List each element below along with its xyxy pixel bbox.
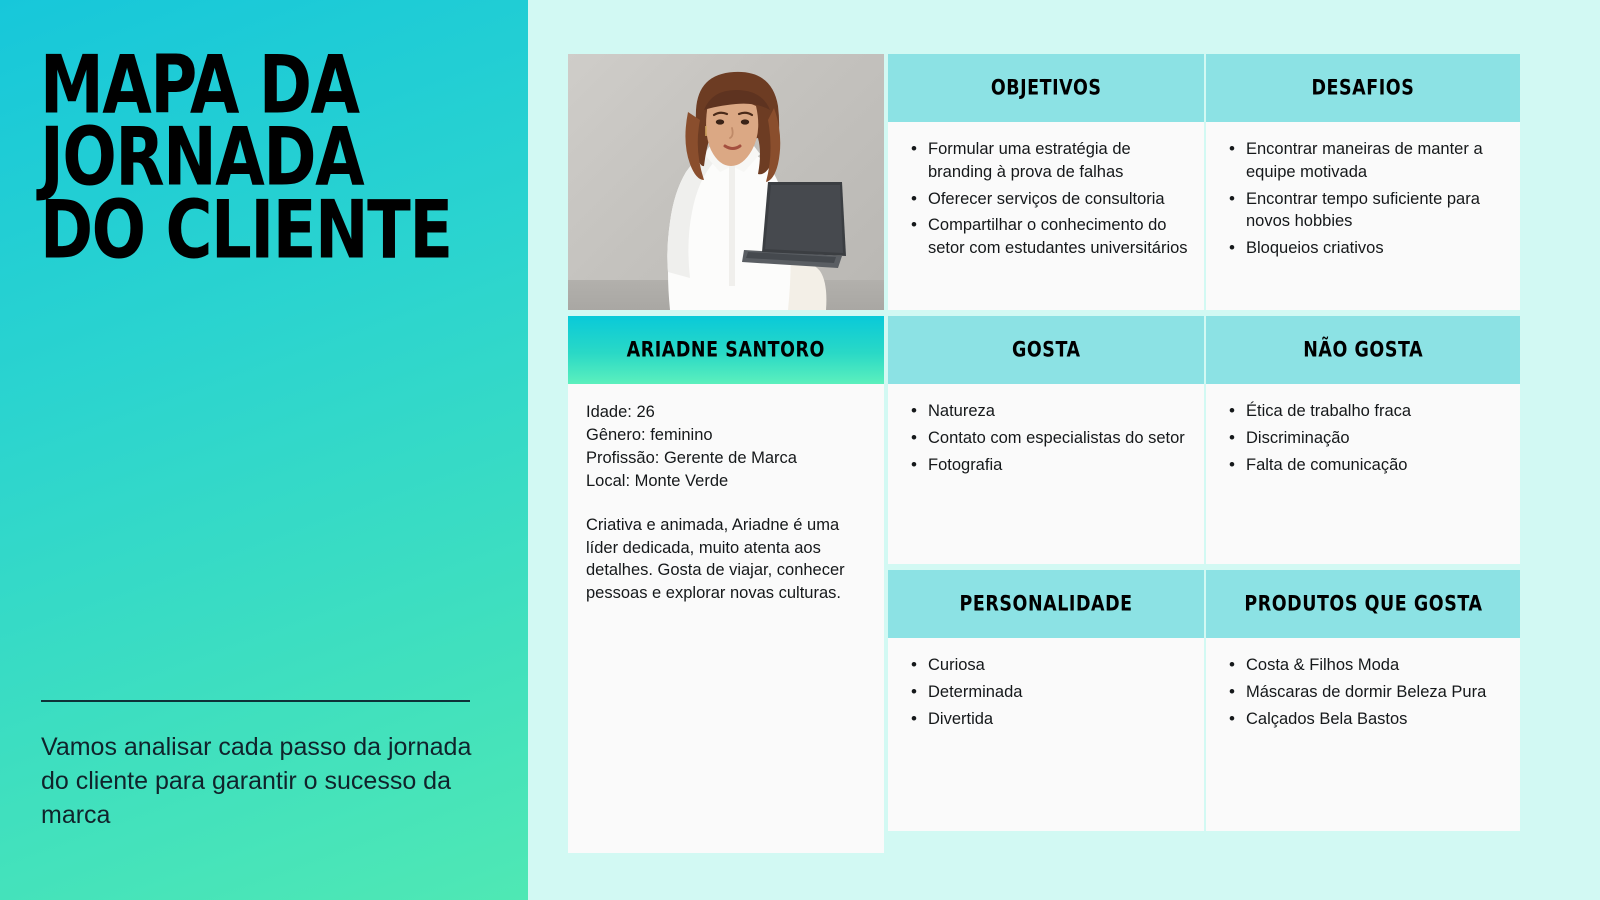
gosta-list: Natureza Contato com especialistas do se… xyxy=(906,400,1188,476)
list-item: Formular uma estratégia de branding à pr… xyxy=(926,138,1188,184)
personalidade-list: Curiosa Determinada Divertida xyxy=(906,654,1188,730)
nao-gosta-list: Ética de trabalho fraca Discriminação Fa… xyxy=(1224,400,1504,476)
persona-description: Criativa e animada, Ariadne é uma líder … xyxy=(586,514,868,605)
card-personalidade-title: PERSONALIDADE xyxy=(959,592,1132,617)
list-item: Natureza xyxy=(926,400,1188,423)
persona-info-body: Idade: 26 Gênero: feminino Profissão: Ge… xyxy=(568,384,884,853)
list-item: Determinada xyxy=(926,681,1188,704)
persona-photo xyxy=(568,54,884,310)
card-gosta-header: GOSTA xyxy=(888,316,1204,384)
persona-board: ARIADNE SANTORO Idade: 26 Gênero: femini… xyxy=(568,54,1520,829)
column-persona: ARIADNE SANTORO Idade: 26 Gênero: femini… xyxy=(568,54,884,853)
card-desafios-body: Encontrar maneiras de manter a equipe mo… xyxy=(1206,122,1520,310)
card-nao-gosta-header: NÃO GOSTA xyxy=(1206,316,1520,384)
column-right: DESAFIOS Encontrar maneiras de manter a … xyxy=(1206,54,1520,831)
card-gosta-body: Natureza Contato com especialistas do se… xyxy=(888,384,1204,564)
card-produtos: PRODUTOS QUE GOSTA Costa & Filhos Moda M… xyxy=(1206,570,1520,831)
persona-meta-gender: Gênero: feminino xyxy=(586,425,868,447)
list-item: Bloqueios criativos xyxy=(1244,237,1504,260)
card-nao-gosta-body: Ética de trabalho fraca Discriminação Fa… xyxy=(1206,384,1520,564)
card-objetivos-body: Formular uma estratégia de branding à pr… xyxy=(888,122,1204,310)
persona-name-label: ARIADNE SANTORO xyxy=(627,338,825,363)
list-item: Curiosa xyxy=(926,654,1188,677)
list-item: Contato com especialistas do setor xyxy=(926,427,1188,450)
card-desafios-header: DESAFIOS xyxy=(1206,54,1520,122)
divider-rule xyxy=(41,700,470,702)
list-item: Encontrar tempo suficiente para novos ho… xyxy=(1244,188,1504,234)
card-produtos-title: PRODUTOS QUE GOSTA xyxy=(1244,592,1482,617)
persona-photo-card xyxy=(568,54,884,310)
card-produtos-body: Costa & Filhos Moda Máscaras de dormir B… xyxy=(1206,638,1520,831)
persona-meta-list: Idade: 26 Gênero: feminino Profissão: Ge… xyxy=(586,402,868,493)
list-item: Encontrar maneiras de manter a equipe mo… xyxy=(1244,138,1504,184)
card-desafios-title: DESAFIOS xyxy=(1312,76,1415,101)
column-middle: OBJETIVOS Formular uma estratégia de bra… xyxy=(888,54,1204,831)
card-desafios: DESAFIOS Encontrar maneiras de manter a … xyxy=(1206,54,1520,310)
card-nao-gosta: NÃO GOSTA Ética de trabalho fraca Discri… xyxy=(1206,316,1520,564)
list-item: Falta de comunicação xyxy=(1244,454,1504,477)
list-item: Calçados Bela Bastos xyxy=(1244,708,1504,731)
card-gosta-title: GOSTA xyxy=(1012,338,1081,363)
list-item: Costa & Filhos Moda xyxy=(1244,654,1504,677)
list-item: Fotografia xyxy=(926,454,1188,477)
desafios-list: Encontrar maneiras de manter a equipe mo… xyxy=(1224,138,1504,260)
list-item: Discriminação xyxy=(1244,427,1504,450)
card-personalidade-body: Curiosa Determinada Divertida xyxy=(888,638,1204,831)
card-objetivos-header: OBJETIVOS xyxy=(888,54,1204,122)
card-produtos-header: PRODUTOS QUE GOSTA xyxy=(1206,570,1520,638)
list-item: Divertida xyxy=(926,708,1188,731)
card-objetivos-title: OBJETIVOS xyxy=(991,76,1102,101)
page-title: MAPA DA JORNADA DO CLIENTE xyxy=(40,48,500,265)
persona-photo-illustration xyxy=(568,54,884,310)
card-nao-gosta-title: NÃO GOSTA xyxy=(1303,338,1423,363)
page-title-line-3: DO CLIENTE xyxy=(40,193,486,268)
customer-journey-map-poster: MAPA DA JORNADA DO CLIENTE Vamos analisa… xyxy=(0,0,1600,900)
list-item: Oferecer serviços de consultoria xyxy=(926,188,1188,211)
card-gosta: GOSTA Natureza Contato com especialistas… xyxy=(888,316,1204,564)
card-personalidade-header: PERSONALIDADE xyxy=(888,570,1204,638)
persona-meta-age: Idade: 26 xyxy=(586,402,868,424)
objetivos-list: Formular uma estratégia de branding à pr… xyxy=(906,138,1188,260)
left-title-panel: MAPA DA JORNADA DO CLIENTE Vamos analisa… xyxy=(0,0,528,900)
persona-meta-location: Local: Monte Verde xyxy=(586,471,868,493)
list-item: Máscaras de dormir Beleza Pura xyxy=(1244,681,1504,704)
list-item: Ética de trabalho fraca xyxy=(1244,400,1504,423)
persona-name-card: ARIADNE SANTORO Idade: 26 Gênero: femini… xyxy=(568,316,884,853)
list-item: Compartilhar o conhecimento do setor com… xyxy=(926,214,1188,260)
tagline-text: Vamos analisar cada passo da jornada do … xyxy=(41,731,481,832)
persona-name-band: ARIADNE SANTORO xyxy=(568,316,884,384)
card-personalidade: PERSONALIDADE Curiosa Determinada Divert… xyxy=(888,570,1204,831)
persona-meta-occupation: Profissão: Gerente de Marca xyxy=(586,448,868,470)
produtos-list: Costa & Filhos Moda Máscaras de dormir B… xyxy=(1224,654,1504,730)
card-objetivos: OBJETIVOS Formular uma estratégia de bra… xyxy=(888,54,1204,310)
